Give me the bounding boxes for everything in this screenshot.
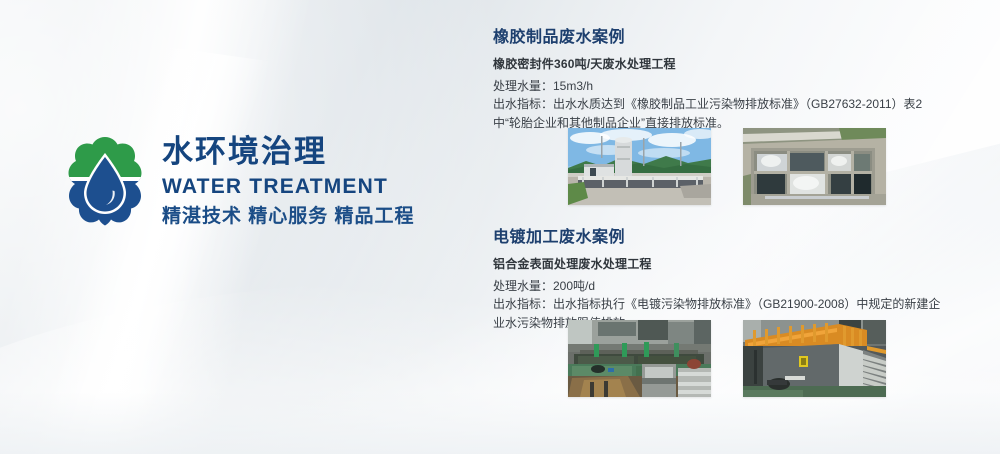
case-photos-rubber bbox=[568, 128, 886, 205]
photo-graphic bbox=[568, 320, 711, 397]
background-swoosh-7 bbox=[0, 392, 1000, 454]
case-section-rubber: 橡胶制品废水案例 橡胶密封件360吨/天废水处理工程 处理水量：15m3/h 出… bbox=[493, 28, 945, 134]
case-photos-electroplating bbox=[568, 320, 886, 397]
brand-name-en: WATER TREATMENT bbox=[162, 173, 415, 201]
case-subtitle: 橡胶密封件360吨/天废水处理工程 bbox=[493, 56, 945, 73]
case-capacity: 处理水量：200吨/d bbox=[493, 277, 945, 296]
electroplating-equipment-platform-stairs-photo[interactable] bbox=[743, 320, 886, 397]
brand-slogan: 精湛技术 精心服务 精品工程 bbox=[162, 204, 415, 230]
photo-graphic bbox=[743, 320, 886, 397]
water-drop-flower-logo-icon bbox=[62, 135, 148, 227]
electroplating-indoor-treatment-tanks-photo[interactable] bbox=[568, 320, 711, 397]
case-title: 电镀加工废水案例 bbox=[493, 228, 945, 249]
case-subtitle: 铝合金表面处理废水处理工程 bbox=[493, 256, 945, 273]
photo-graphic bbox=[568, 128, 711, 205]
photo-graphic bbox=[743, 128, 886, 205]
rubber-wastewater-aerial-treatment-basins-photo[interactable] bbox=[743, 128, 886, 205]
brand-text-block: 水环境治理 WATER TREATMENT 精湛技术 精心服务 精品工程 bbox=[162, 133, 415, 230]
brand-block: 水环境治理 WATER TREATMENT 精湛技术 精心服务 精品工程 bbox=[62, 133, 415, 230]
case-section-electroplating: 电镀加工废水案例 铝合金表面处理废水处理工程 处理水量：200吨/d 出水指标：… bbox=[493, 228, 945, 334]
background-swoosh-8 bbox=[0, 17, 314, 454]
rubber-wastewater-plant-outdoor-tanks-photo[interactable] bbox=[568, 128, 711, 205]
brand-name-cn: 水环境治理 bbox=[162, 133, 415, 172]
water-treatment-banner: 水环境治理 WATER TREATMENT 精湛技术 精心服务 精品工程 橡胶制… bbox=[0, 0, 1000, 454]
case-title: 橡胶制品废水案例 bbox=[493, 28, 945, 49]
case-capacity: 处理水量：15m3/h bbox=[493, 77, 945, 96]
